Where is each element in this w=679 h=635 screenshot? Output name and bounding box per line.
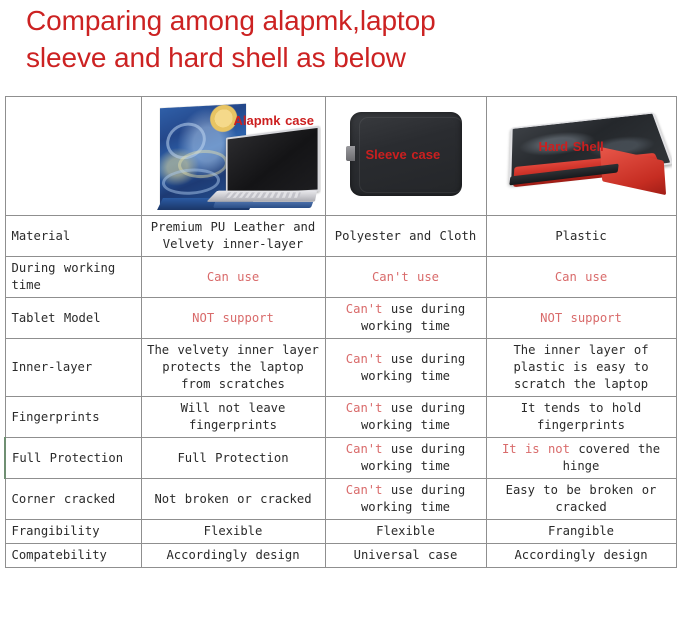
- cell-hardshell: Can use: [486, 257, 676, 298]
- sleeve-zipper-icon: [346, 146, 355, 161]
- cell-text: Easy to be broken or cracked: [506, 483, 657, 514]
- cell-text: Plastic: [555, 229, 606, 243]
- cell-alapmk: Premium PU Leather and Velvety inner-lay…: [141, 216, 325, 257]
- table-row: During working timeCan useCan't useCan u…: [5, 257, 676, 298]
- product-cell-alapmk: Alapmk case: [141, 97, 325, 216]
- cell-sleeve: Can't use during working time: [325, 339, 486, 397]
- cell-alapmk: The velvety inner layer protects the lap…: [141, 339, 325, 397]
- cell-sleeve: Universal case: [325, 544, 486, 568]
- cell-emphasis-text: Can't: [346, 401, 383, 415]
- hard-shell-image: Hard Shell: [491, 100, 672, 212]
- cell-alapmk: NOT support: [141, 298, 325, 339]
- cell-emphasis-text: Can't: [346, 442, 383, 456]
- sleeve-case-badge: Sleeve case: [366, 146, 441, 163]
- title-line-2: sleeve and hard shell as below: [26, 39, 679, 76]
- sleeve-case-image: Sleeve case: [330, 100, 482, 212]
- cell-sleeve: Can't use: [325, 257, 486, 298]
- cell-hardshell: The inner layer of plastic is easy to sc…: [486, 339, 676, 397]
- laptop-icon: [212, 132, 316, 210]
- alapmk-case-badge: Alapmk case: [234, 112, 315, 129]
- cell-hardshell: Frangible: [486, 520, 676, 544]
- cell-emphasis-text: Can use: [555, 270, 607, 284]
- page-title: Comparing among alapmk,laptop sleeve and…: [0, 0, 679, 96]
- cell-text: Universal case: [354, 548, 458, 562]
- row-label: Tablet Model: [5, 298, 141, 339]
- cell-text: covered the hinge: [563, 442, 660, 473]
- table-row: MaterialPremium PU Leather and Velvety i…: [5, 216, 676, 257]
- cell-hardshell: Plastic: [486, 216, 676, 257]
- product-cell-hardshell: Hard Shell: [486, 97, 676, 216]
- table-row: CompatebilityAccordingly designUniversal…: [5, 544, 676, 568]
- hard-shell-badge: Hard Shell: [539, 138, 604, 155]
- cell-alapmk: Can use: [141, 257, 325, 298]
- cell-text: Flexible: [204, 524, 263, 538]
- cell-emphasis-text: NOT support: [192, 311, 274, 325]
- cell-emphasis-text: Can use: [207, 270, 259, 284]
- cell-sleeve: Can't use during working time: [325, 298, 486, 339]
- row-label: Material: [5, 216, 141, 257]
- row-label: Corner cracked: [5, 479, 141, 520]
- row-label: Frangibility: [5, 520, 141, 544]
- cell-alapmk: Flexible: [141, 520, 325, 544]
- product-cell-sleeve: Sleeve case: [325, 97, 486, 216]
- cell-text: Not broken or cracked: [154, 492, 311, 506]
- cell-alapmk: Accordingly design: [141, 544, 325, 568]
- row-label: Inner-layer: [5, 339, 141, 397]
- product-image-row: Alapmk case Sleeve case: [5, 97, 676, 216]
- cell-text: Premium PU Leather and Velvety inner-lay…: [151, 220, 315, 251]
- cell-text: Will not leave fingerprints: [181, 401, 286, 432]
- cell-text: It tends to hold fingerprints: [521, 401, 641, 432]
- cell-emphasis-text: Can't use: [372, 270, 439, 284]
- cell-sleeve: Can't use during working time: [325, 479, 486, 520]
- cell-hardshell: NOT support: [486, 298, 676, 339]
- row-label: During working time: [5, 257, 141, 298]
- cell-sleeve: Can't use during working time: [325, 438, 486, 479]
- hard-shell-artwork: [505, 110, 671, 202]
- cell-text: Frangible: [548, 524, 614, 538]
- cell-text: The velvety inner layer protects the lap…: [147, 343, 319, 391]
- cell-text: Accordingly design: [166, 548, 299, 562]
- cell-sleeve: Polyester and Cloth: [325, 216, 486, 257]
- table-row: Inner-layerThe velvety inner layer prote…: [5, 339, 676, 397]
- title-line-1: Comparing among alapmk,laptop: [26, 2, 679, 39]
- cell-hardshell: Easy to be broken or cracked: [486, 479, 676, 520]
- cell-alapmk: Full Protection: [141, 438, 325, 479]
- cell-hardshell: It is not covered the hinge: [486, 438, 676, 479]
- row-label: Fingerprints: [5, 397, 141, 438]
- table-row: Corner crackedNot broken or crackedCan't…: [5, 479, 676, 520]
- table-row: Full ProtectionFull ProtectionCan't use …: [5, 438, 676, 479]
- cell-emphasis-text: Can't: [346, 352, 383, 366]
- cell-emphasis-text: NOT support: [540, 311, 622, 325]
- cell-hardshell: It tends to hold fingerprints: [486, 397, 676, 438]
- cell-text: The inner layer of plastic is easy to sc…: [513, 343, 648, 391]
- cell-sleeve: Flexible: [325, 520, 486, 544]
- cell-alapmk: Will not leave fingerprints: [141, 397, 325, 438]
- table-row: Tablet ModelNOT supportCan't use during …: [5, 298, 676, 339]
- row-label: Full Protection: [5, 438, 141, 479]
- table-row: FingerprintsWill not leave fingerprintsC…: [5, 397, 676, 438]
- cell-emphasis-text: Can't: [346, 483, 383, 497]
- comparison-table: Alapmk case Sleeve case: [4, 96, 677, 568]
- image-row-empty-cell: [5, 97, 141, 216]
- table-row: FrangibilityFlexibleFlexibleFrangible: [5, 520, 676, 544]
- cell-alapmk: Not broken or cracked: [141, 479, 325, 520]
- comparison-rows: MaterialPremium PU Leather and Velvety i…: [5, 216, 676, 568]
- cell-hardshell: Accordingly design: [486, 544, 676, 568]
- cell-text: Polyester and Cloth: [335, 229, 476, 243]
- row-label: Compatebility: [5, 544, 141, 568]
- alapmk-case-image: Alapmk case: [146, 100, 321, 212]
- cell-emphasis-text: Can't: [346, 302, 383, 316]
- cell-text: Flexible: [376, 524, 435, 538]
- cell-emphasis-text: It is not: [502, 442, 570, 456]
- cell-text: Accordingly design: [514, 548, 647, 562]
- cell-sleeve: Can't use during working time: [325, 397, 486, 438]
- cell-text: Full Protection: [177, 451, 288, 465]
